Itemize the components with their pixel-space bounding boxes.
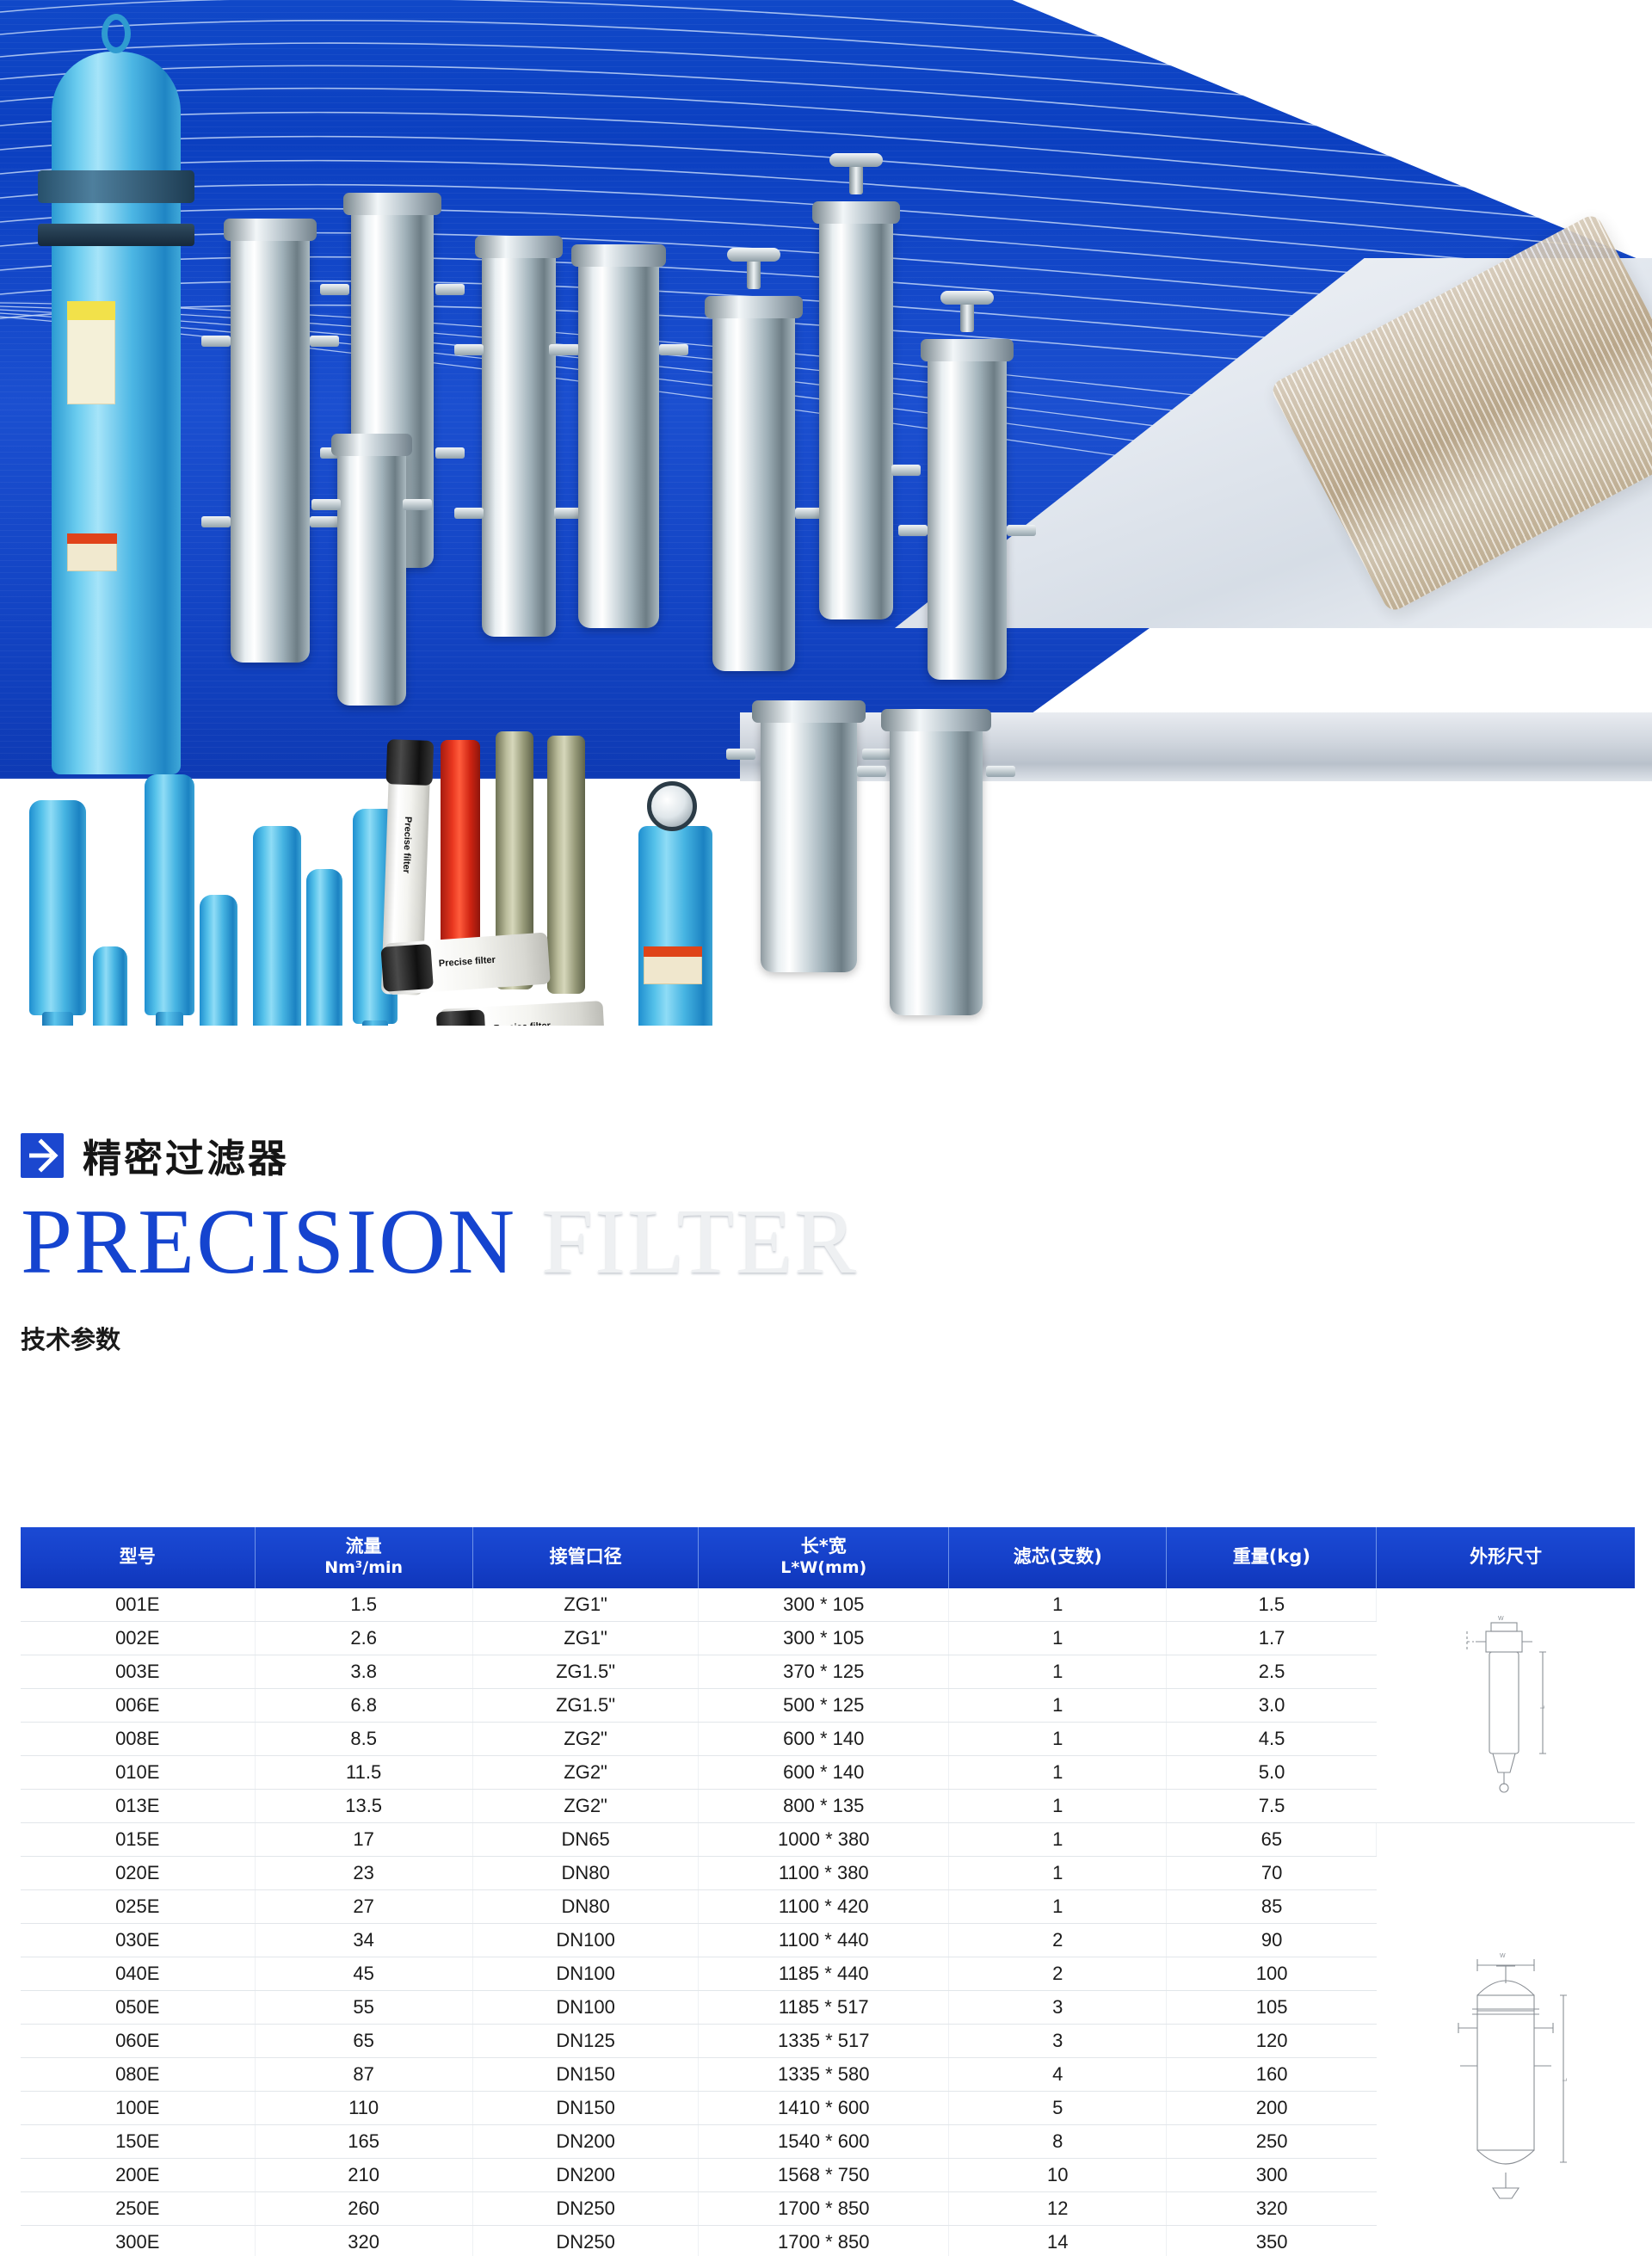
col-header-flow-unit: Nm³/min xyxy=(259,1558,469,1578)
cell-cores: 1 xyxy=(949,1889,1167,1923)
cell-port: DN200 xyxy=(472,2158,699,2191)
cell-model: 008E xyxy=(21,1722,255,1755)
cell-port: ZG1" xyxy=(472,1588,699,1622)
steel-vessel-7 xyxy=(819,215,893,619)
cell-flow: 65 xyxy=(255,2024,472,2057)
cell-model: 013E xyxy=(21,1789,255,1822)
cell-model: 200E xyxy=(21,2158,255,2191)
cell-port: DN200 xyxy=(472,2124,699,2158)
cell-flow: 2.6 xyxy=(255,1621,472,1655)
cell-port: DN250 xyxy=(472,2225,699,2256)
cell-weight: 250 xyxy=(1167,2124,1377,2158)
cell-weight: 300 xyxy=(1167,2158,1377,2191)
cell-flow: 3.8 xyxy=(255,1655,472,1688)
cell-model: 030E xyxy=(21,1923,255,1957)
cell-cores: 1 xyxy=(949,1789,1167,1822)
blue-filter-3 xyxy=(145,774,194,1015)
cell-weight: 3.0 xyxy=(1167,1688,1377,1722)
cell-weight: 5.0 xyxy=(1167,1755,1377,1789)
cell-model: 060E xyxy=(21,2024,255,2057)
cell-flow: 27 xyxy=(255,1889,472,1923)
cell-size: 370 * 125 xyxy=(699,1655,949,1688)
cell-weight: 120 xyxy=(1167,2024,1377,2057)
cell-model: 300E xyxy=(21,2225,255,2256)
arrow-right-icon xyxy=(21,1133,64,1178)
cell-weight: 90 xyxy=(1167,1923,1377,1957)
cell-weight: 100 xyxy=(1167,1957,1377,1990)
cell-size: 1700 * 850 xyxy=(699,2225,949,2256)
spec-table-wrap: 型号 流量 Nm³/min 接管口径 长*宽 L*W(mm) 滤芯(支数) xyxy=(21,1527,1635,2256)
col-header-cores-label: 滤芯(支数) xyxy=(1014,1546,1102,1567)
blue-filter-6 xyxy=(306,869,342,1041)
cell-cores: 1 xyxy=(949,1822,1167,1856)
cell-flow: 55 xyxy=(255,1990,472,2024)
steel-vessel-4 xyxy=(482,250,556,637)
bowl-label-stripe xyxy=(644,946,702,957)
cell-cores: 3 xyxy=(949,1990,1167,2024)
cell-flow: 11.5 xyxy=(255,1755,472,1789)
hero-bottom-white xyxy=(0,1026,1652,1127)
blue-filter-with-gauge xyxy=(638,826,712,1041)
cell-port: DN150 xyxy=(472,2057,699,2091)
section-title-en: PRECISION FILTER xyxy=(0,1193,1652,1291)
cell-port: DN100 xyxy=(472,1990,699,2024)
cell-cores: 1 xyxy=(949,1621,1167,1655)
cell-flow: 17 xyxy=(255,1822,472,1856)
cell-flow: 87 xyxy=(255,2057,472,2091)
blue-filter-1 xyxy=(29,800,86,1015)
cell-model: 003E xyxy=(21,1655,255,1688)
steel-vessel-1 xyxy=(231,232,310,663)
cell-cores: 8 xyxy=(949,2124,1167,2158)
cell-port: ZG2" xyxy=(472,1755,699,1789)
large-filter-outline-drawing: L W xyxy=(1433,1945,1579,2204)
cell-model: 080E xyxy=(21,2057,255,2091)
cell-cores: 10 xyxy=(949,2158,1167,2191)
pressure-gauge xyxy=(647,781,697,831)
col-header-port: 接管口径 xyxy=(472,1527,699,1588)
cell-weight: 1.5 xyxy=(1167,1588,1377,1622)
cell-port: ZG1" xyxy=(472,1621,699,1655)
cell-size: 1100 * 440 xyxy=(699,1923,949,1957)
cell-port: DN65 xyxy=(472,1822,699,1856)
table-header-row: 型号 流量 Nm³/min 接管口径 长*宽 L*W(mm) 滤芯(支数) xyxy=(21,1527,1635,1588)
svg-text:L: L xyxy=(1563,2078,1569,2081)
cell-flow: 210 xyxy=(255,2158,472,2191)
steel-vessel-8 xyxy=(928,353,1007,680)
cell-model: 150E xyxy=(21,2124,255,2158)
cell-size: 1100 * 380 xyxy=(699,1856,949,1889)
cell-flow: 8.5 xyxy=(255,1722,472,1755)
cell-port: DN125 xyxy=(472,2024,699,2057)
cell-cores: 5 xyxy=(949,2091,1167,2124)
blue-filter-5 xyxy=(253,826,301,1050)
cell-model: 100E xyxy=(21,2091,255,2124)
steel-vessel-9 xyxy=(761,714,857,972)
col-header-size-label: 长*宽 xyxy=(801,1536,847,1556)
col-header-drawing: 外形尺寸 xyxy=(1377,1527,1635,1588)
cell-size: 300 * 105 xyxy=(699,1621,949,1655)
col-header-weight: 重量(kg) xyxy=(1167,1527,1377,1588)
cell-flow: 110 xyxy=(255,2091,472,2124)
cell-weight: 1.7 xyxy=(1167,1621,1377,1655)
col-header-flow-label: 流量 xyxy=(346,1536,382,1556)
cell-weight: 350 xyxy=(1167,2225,1377,2256)
title-filter: FILTER xyxy=(541,1191,858,1293)
cell-flow: 1.5 xyxy=(255,1588,472,1622)
cell-model: 050E xyxy=(21,1990,255,2024)
cell-size: 1410 * 600 xyxy=(699,2091,949,2124)
cell-weight: 320 xyxy=(1167,2191,1377,2225)
cell-port: DN150 xyxy=(472,2091,699,2124)
cell-model: 002E xyxy=(21,1621,255,1655)
spec-table-head: 型号 流量 Nm³/min 接管口径 长*宽 L*W(mm) 滤芯(支数) xyxy=(21,1527,1635,1588)
cell-weight: 105 xyxy=(1167,1990,1377,2024)
cell-cores: 4 xyxy=(949,2057,1167,2091)
cell-cores: 1 xyxy=(949,1722,1167,1755)
steel-vessel-10 xyxy=(890,723,983,1015)
steel-vessel-6 xyxy=(712,310,795,671)
cell-weight: 2.5 xyxy=(1167,1655,1377,1688)
section-title-cn: 精密过滤器 xyxy=(83,1127,289,1183)
cell-size: 1335 * 517 xyxy=(699,2024,949,2057)
large-filter-outline-drawing: L W xyxy=(1377,1822,1635,2256)
cell-flow: 6.8 xyxy=(255,1688,472,1722)
cell-weight: 200 xyxy=(1167,2091,1377,2124)
cell-cores: 14 xyxy=(949,2225,1167,2256)
vessel-label-stripe xyxy=(67,301,115,320)
title-precision: PRECISION xyxy=(21,1191,516,1293)
cell-port: DN80 xyxy=(472,1889,699,1923)
cell-flow: 34 xyxy=(255,1923,472,1957)
col-header-cores: 滤芯(支数) xyxy=(949,1527,1167,1588)
cell-cores: 2 xyxy=(949,1923,1167,1957)
section-heading-row: 精密过滤器 xyxy=(0,1127,1652,1183)
cell-weight: 7.5 xyxy=(1167,1789,1377,1822)
cell-cores: 1 xyxy=(949,1856,1167,1889)
vessel-flange xyxy=(38,224,194,246)
vessel-head-band xyxy=(38,170,194,203)
cell-flow: 320 xyxy=(255,2225,472,2256)
table-row: 015E17DN651000 * 380165 L W xyxy=(21,1822,1635,1856)
cell-model: 001E xyxy=(21,1588,255,1622)
cartridge-brand-label: Precise filter xyxy=(401,817,413,873)
title-block: 精密过滤器 PRECISION FILTER 技术参数 xyxy=(0,1127,1652,1356)
large-blue-filter-vessel xyxy=(52,52,181,774)
cell-weight: 65 xyxy=(1167,1822,1377,1856)
catalog-page: Precise filter Precise filter Precise fi… xyxy=(0,0,1652,2256)
cell-size: 800 * 135 xyxy=(699,1789,949,1822)
steel-vessel-5 xyxy=(578,258,659,628)
cell-cores: 1 xyxy=(949,1755,1167,1789)
cell-size: 1335 * 580 xyxy=(699,2057,949,2091)
col-header-size-unit: L*W(mm) xyxy=(702,1558,945,1578)
cell-cores: 1 xyxy=(949,1588,1167,1622)
vessel-warning-stripe xyxy=(67,533,117,544)
cell-model: 250E xyxy=(21,2191,255,2225)
cell-cores: 1 xyxy=(949,1688,1167,1722)
cell-weight: 85 xyxy=(1167,1889,1377,1923)
cell-weight: 160 xyxy=(1167,2057,1377,2091)
cell-port: ZG1.5" xyxy=(472,1655,699,1688)
cell-model: 006E xyxy=(21,1688,255,1722)
cell-size: 300 * 105 xyxy=(699,1588,949,1622)
steel-vessel-3 xyxy=(337,447,406,706)
cell-size: 1100 * 420 xyxy=(699,1889,949,1923)
cell-model: 015E xyxy=(21,1822,255,1856)
spec-table-body: 001E1.5ZG1"300 * 10511.5 L W 002E2.6ZG1"… xyxy=(21,1588,1635,2256)
cell-flow: 165 xyxy=(255,2124,472,2158)
cell-cores: 3 xyxy=(949,2024,1167,2057)
spec-table: 型号 流量 Nm³/min 接管口径 长*宽 L*W(mm) 滤芯(支数) xyxy=(21,1527,1635,2256)
col-header-drawing-label: 外形尺寸 xyxy=(1470,1546,1542,1567)
svg-text:W: W xyxy=(1500,1953,1506,1959)
cell-flow: 260 xyxy=(255,2191,472,2225)
col-header-port-label: 接管口径 xyxy=(550,1546,622,1567)
cell-size: 600 * 140 xyxy=(699,1755,949,1789)
col-header-size: 长*宽 L*W(mm) xyxy=(699,1527,949,1588)
cell-size: 1700 * 850 xyxy=(699,2191,949,2225)
hero-product-photo: Precise filter Precise filter Precise fi… xyxy=(0,0,1652,1127)
cell-size: 1000 * 380 xyxy=(699,1822,949,1856)
svg-text:L: L xyxy=(1540,1705,1546,1709)
cell-cores: 1 xyxy=(949,1655,1167,1688)
cell-flow: 13.5 xyxy=(255,1789,472,1822)
olive-cartridge-2 xyxy=(547,736,585,994)
cell-size: 500 * 125 xyxy=(699,1688,949,1722)
cell-cores: 2 xyxy=(949,1957,1167,1990)
cell-port: DN100 xyxy=(472,1923,699,1957)
cell-port: ZG2" xyxy=(472,1722,699,1755)
table-row: 001E1.5ZG1"300 * 10511.5 L W xyxy=(21,1588,1635,1622)
small-filter-outline-drawing: L W xyxy=(1441,1612,1570,1797)
tech-params-heading: 技术参数 xyxy=(0,1320,1652,1356)
cell-flow: 23 xyxy=(255,1856,472,1889)
cell-port: DN100 xyxy=(472,1957,699,1990)
cell-model: 010E xyxy=(21,1755,255,1789)
cell-port: DN250 xyxy=(472,2191,699,2225)
cell-model: 020E xyxy=(21,1856,255,1889)
cell-cores: 12 xyxy=(949,2191,1167,2225)
cell-weight: 4.5 xyxy=(1167,1722,1377,1755)
cell-model: 040E xyxy=(21,1957,255,1990)
col-header-weight-label: 重量(kg) xyxy=(1233,1546,1310,1567)
col-header-flow: 流量 Nm³/min xyxy=(255,1527,472,1588)
cell-port: DN80 xyxy=(472,1856,699,1889)
cell-size: 1185 * 517 xyxy=(699,1990,949,2024)
cell-model: 025E xyxy=(21,1889,255,1923)
cell-size: 600 * 140 xyxy=(699,1722,949,1755)
cell-size: 1540 * 600 xyxy=(699,2124,949,2158)
col-header-model: 型号 xyxy=(21,1527,255,1588)
svg-text:W: W xyxy=(1498,1616,1504,1622)
col-header-model-label: 型号 xyxy=(120,1546,156,1567)
small-filter-outline-drawing: L W xyxy=(1377,1588,1635,1823)
cell-size: 1185 * 440 xyxy=(699,1957,949,1990)
vessel-lifting-eye xyxy=(102,14,131,53)
cell-port: ZG1.5" xyxy=(472,1688,699,1722)
cell-flow: 45 xyxy=(255,1957,472,1990)
cell-port: ZG2" xyxy=(472,1789,699,1822)
cell-size: 1568 * 750 xyxy=(699,2158,949,2191)
cell-weight: 70 xyxy=(1167,1856,1377,1889)
